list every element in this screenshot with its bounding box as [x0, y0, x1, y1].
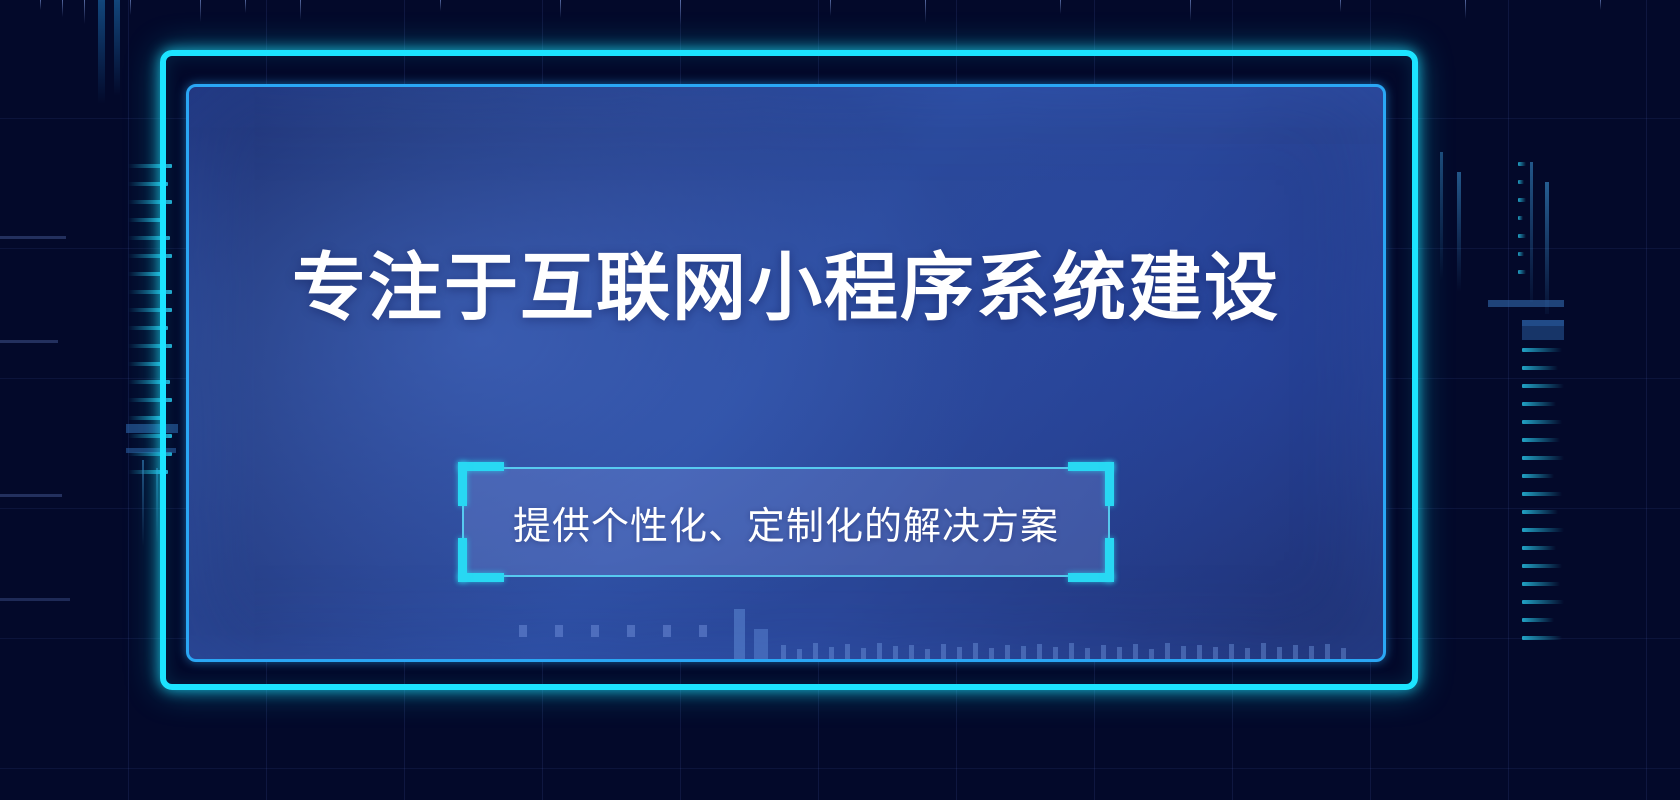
decorative-dash-5	[1522, 438, 1560, 442]
right-dash-stack	[1522, 348, 1564, 654]
decorative-dash-3	[1522, 402, 1556, 406]
decorative-tick-7	[440, 0, 441, 11]
decorative-dash-14	[1522, 600, 1564, 604]
decorative-dash-1	[1522, 366, 1558, 370]
decorative-tall-bar-3	[1440, 152, 1443, 280]
decorative-tick-4	[200, 0, 201, 22]
decorative-dash-2	[1522, 384, 1564, 388]
decorative-tick-8	[560, 0, 561, 18]
decorative-dash-5	[1518, 252, 1524, 256]
decorative-tick-0	[40, 0, 41, 10]
decorative-slab-right-3	[1522, 320, 1564, 340]
decorative-dash-11	[1522, 546, 1556, 550]
decorative-dash-10	[1522, 528, 1564, 532]
decorative-tick-3	[130, 0, 131, 15]
decorative-tick-9	[680, 0, 681, 25]
decorative-vline-right-2	[1545, 182, 1549, 314]
decorative-tall-bar-2	[114, 0, 120, 96]
decorative-slab-left-2	[0, 340, 58, 343]
decorative-tick-12	[1060, 0, 1061, 14]
decorative-tick-2	[84, 0, 85, 24]
decorative-vline-left-2	[156, 468, 158, 544]
top-tick-row	[0, 0, 1680, 28]
decorative-tick-14	[1340, 0, 1341, 12]
decorative-slab-left-4	[0, 598, 70, 601]
banner-stage: 专注于互联网小程序系统建设 提供个性化、定制化的解决方案	[0, 0, 1680, 800]
decorative-vline-right-1	[1530, 162, 1533, 302]
decorative-dash-2	[1518, 198, 1526, 202]
decorative-dash-0	[1518, 162, 1526, 166]
decorative-dash-13	[1522, 582, 1560, 586]
decorative-slab-left-3	[0, 494, 62, 497]
decorative-tick-5	[245, 0, 246, 13]
decorative-dash-7	[1522, 474, 1554, 478]
decorative-tick-16	[1600, 0, 1601, 10]
decorative-dash-0	[1522, 348, 1562, 352]
decorative-dash-3	[1518, 216, 1523, 220]
decorative-vline-left-1	[142, 460, 144, 546]
decorative-dash-9	[1522, 510, 1558, 514]
decorative-dash-12	[1522, 564, 1562, 568]
decorative-dash-6	[128, 272, 164, 276]
decorative-tick-1	[62, 0, 63, 17]
decorative-dash-4	[1518, 234, 1526, 238]
decorative-dash-16	[1522, 636, 1562, 640]
outer-glow-frame	[160, 50, 1418, 690]
decorative-dash-6	[1522, 456, 1564, 460]
page-subtitle: 提供个性化、定制化的解决方案	[513, 495, 1059, 550]
decorative-dash-14	[128, 416, 164, 420]
decorative-slab-right-2	[1522, 320, 1564, 326]
decorative-slab-right-1	[1488, 300, 1564, 307]
decorative-tick-10	[830, 0, 831, 16]
decorative-dash-15	[1522, 618, 1554, 622]
decorative-tick-15	[1465, 0, 1466, 19]
decorative-dash-4	[1522, 420, 1562, 424]
decorative-slab-left-1	[0, 236, 66, 239]
decorative-dash-6	[1518, 270, 1526, 274]
decorative-tick-13	[1190, 0, 1191, 21]
decorative-tick-6	[300, 0, 301, 20]
right-upper-dash-stack	[1518, 162, 1532, 288]
decorative-tall-bar-1	[98, 0, 105, 104]
decorative-tall-bar-4	[1457, 172, 1461, 292]
decorative-dash-1	[1518, 180, 1524, 184]
decorative-tick-11	[925, 0, 926, 23]
decorative-dash-8	[1522, 492, 1562, 496]
